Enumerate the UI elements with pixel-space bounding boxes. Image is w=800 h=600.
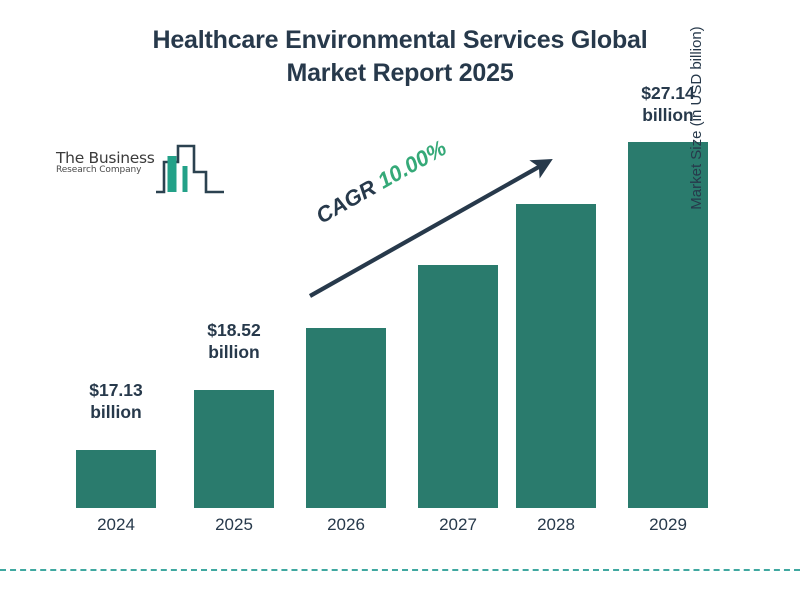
bar-value-2025: $18.52 billion (174, 319, 294, 364)
plot-area: $17.13 billion $18.52 billion $27.14 bil… (0, 0, 800, 600)
bar-2026 (306, 328, 386, 508)
cagr-label-value: 10.00% (373, 135, 450, 194)
bar-2024 (76, 450, 156, 508)
footer-divider (0, 569, 800, 571)
y-axis-title: Market Size (in USD billion) (688, 0, 712, 248)
bar-value-amount-2025: $18.52 (174, 319, 294, 341)
bar-value-amount-2024: $17.13 (56, 379, 176, 401)
chart-canvas: Healthcare Environmental Services Global… (0, 0, 800, 600)
cagr-label-prefix: CAGR (312, 175, 381, 229)
x-tick-2028: 2028 (516, 515, 596, 535)
x-tick-2025: 2025 (194, 515, 274, 535)
y-axis-title-text: Market Size (in USD billion) (688, 26, 705, 209)
x-tick-2024: 2024 (76, 515, 156, 535)
bar-value-unit-2024: billion (56, 401, 176, 423)
cagr-label: CAGR 10.00% (312, 135, 451, 229)
bar-2025 (194, 390, 274, 508)
x-tick-2027: 2027 (418, 515, 498, 535)
x-tick-2026: 2026 (306, 515, 386, 535)
bar-value-2024: $17.13 billion (56, 379, 176, 424)
bar-2028 (516, 204, 596, 508)
bar-2027 (418, 265, 498, 508)
bar-value-unit-2025: billion (174, 341, 294, 363)
x-tick-2029: 2029 (628, 515, 708, 535)
